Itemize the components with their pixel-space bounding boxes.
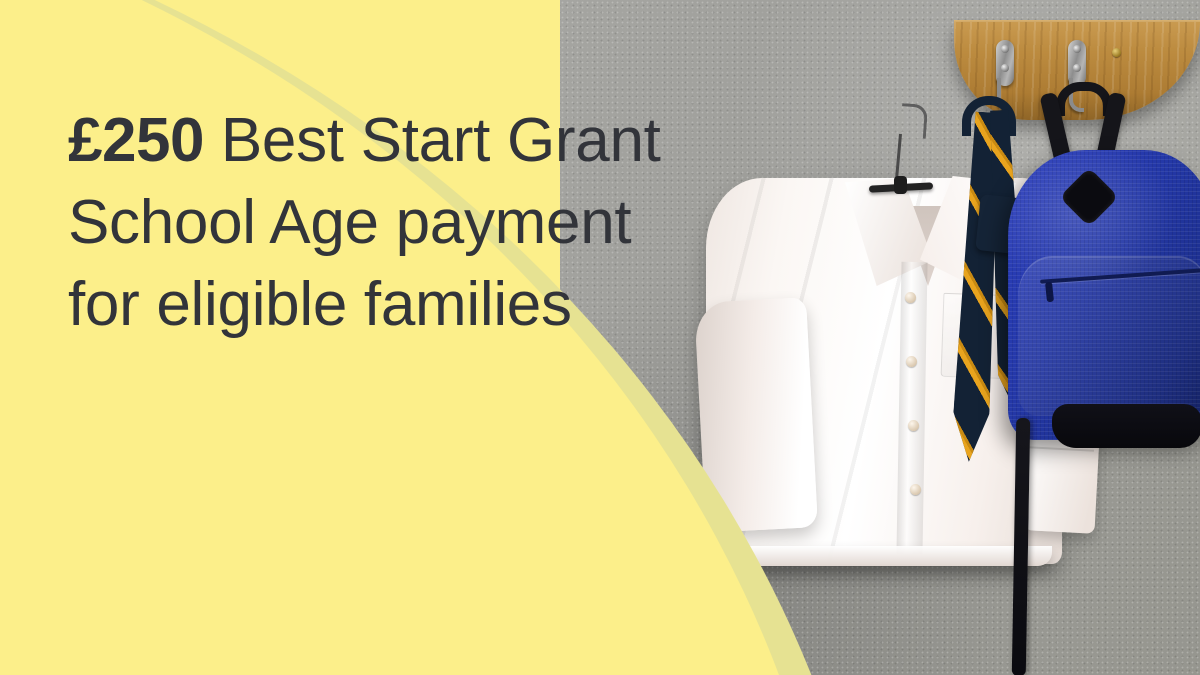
shirt-button (906, 356, 917, 367)
shirt-button (908, 420, 919, 431)
headline-line-2: School Age payment (68, 182, 708, 264)
brass-screw-icon (1112, 48, 1121, 57)
shirt-button (905, 292, 916, 303)
hook-screw-bottom (1073, 64, 1081, 72)
shirt-button-placket (896, 262, 927, 554)
shirt-hem (714, 546, 1052, 566)
hook-screw-top (1001, 45, 1009, 53)
headline-line-1-rest: Best Start Grant (204, 106, 661, 175)
backpack-base (1052, 404, 1200, 448)
hanger-hook-icon (900, 103, 928, 139)
grant-amount: £250 (68, 106, 204, 175)
hanger-centre-knob (894, 176, 907, 194)
best-start-grant-banner: £250 Best Start Grant School Age payment… (0, 0, 1200, 675)
headline-line-1: £250 Best Start Grant (68, 100, 708, 182)
headline-line-3: for eligible families (68, 264, 708, 346)
hook-screw-bottom (1001, 64, 1009, 72)
backpack-strap-loop (1056, 82, 1112, 116)
shirt-button (910, 484, 921, 495)
hook-screw-top (1073, 45, 1081, 53)
page-title: £250 Best Start Grant School Age payment… (68, 100, 708, 346)
